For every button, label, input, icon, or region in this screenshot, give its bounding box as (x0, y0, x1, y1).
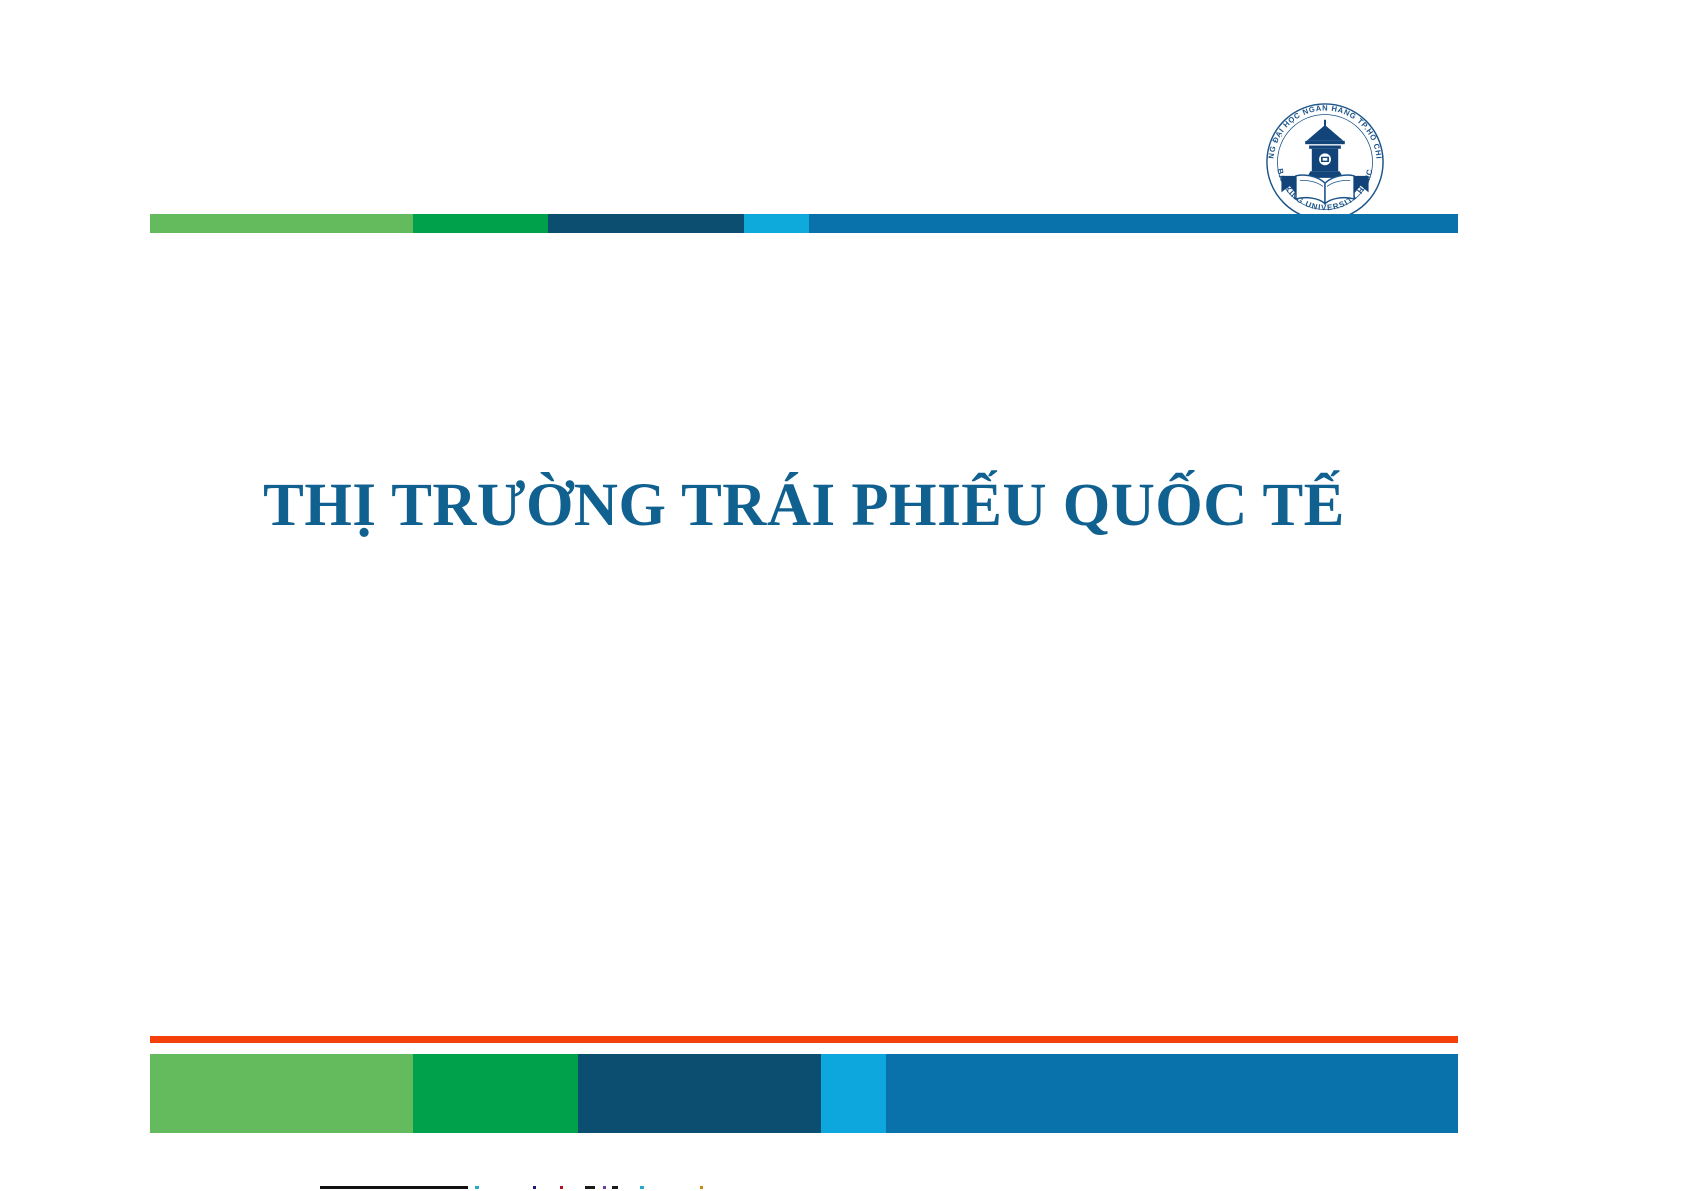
footer-bar-segment-emerald-green (413, 1054, 578, 1133)
next-slide-speck (700, 1186, 703, 1189)
lighthouse-icon (1305, 120, 1345, 178)
footer-bar-segment-light-green (150, 1054, 413, 1133)
header-bar-segment-cyan (744, 214, 809, 233)
footer-color-bar (150, 1054, 1458, 1133)
next-slide-edge (320, 1186, 468, 1189)
next-slide-speck (560, 1186, 563, 1189)
slide-title: THỊ TRƯỜNG TRÁI PHIẾU QUỐC TẾ (150, 471, 1458, 541)
footer-bar-segment-cyan (821, 1054, 886, 1133)
header-bar-segment-ocean-blue (809, 214, 1458, 233)
next-slide-speck (603, 1186, 606, 1189)
footer-bar-segment-deep-navy (578, 1054, 821, 1133)
footer-bar-segment-ocean-blue (886, 1054, 1458, 1133)
footer-accent-rule (150, 1036, 1458, 1043)
next-slide-speck (533, 1186, 536, 1189)
next-slide-speck (640, 1186, 644, 1189)
next-slide-speck (612, 1186, 618, 1189)
header-bar-segment-emerald-green (413, 214, 548, 233)
header-color-bar (150, 214, 1458, 233)
next-slide-speck (585, 1186, 595, 1189)
next-slide-speck (475, 1186, 479, 1189)
header-bar-segment-light-green (150, 214, 413, 233)
university-logo: TRƯỜNG ĐẠI HỌC NGÂN HÀNG TP.HỒ CHÍ MINH … (1252, 96, 1398, 228)
header-bar-segment-deep-navy (548, 214, 744, 233)
title-slide: TRƯỜNG ĐẠI HỌC NGÂN HÀNG TP.HỒ CHÍ MINH … (0, 0, 1685, 1191)
